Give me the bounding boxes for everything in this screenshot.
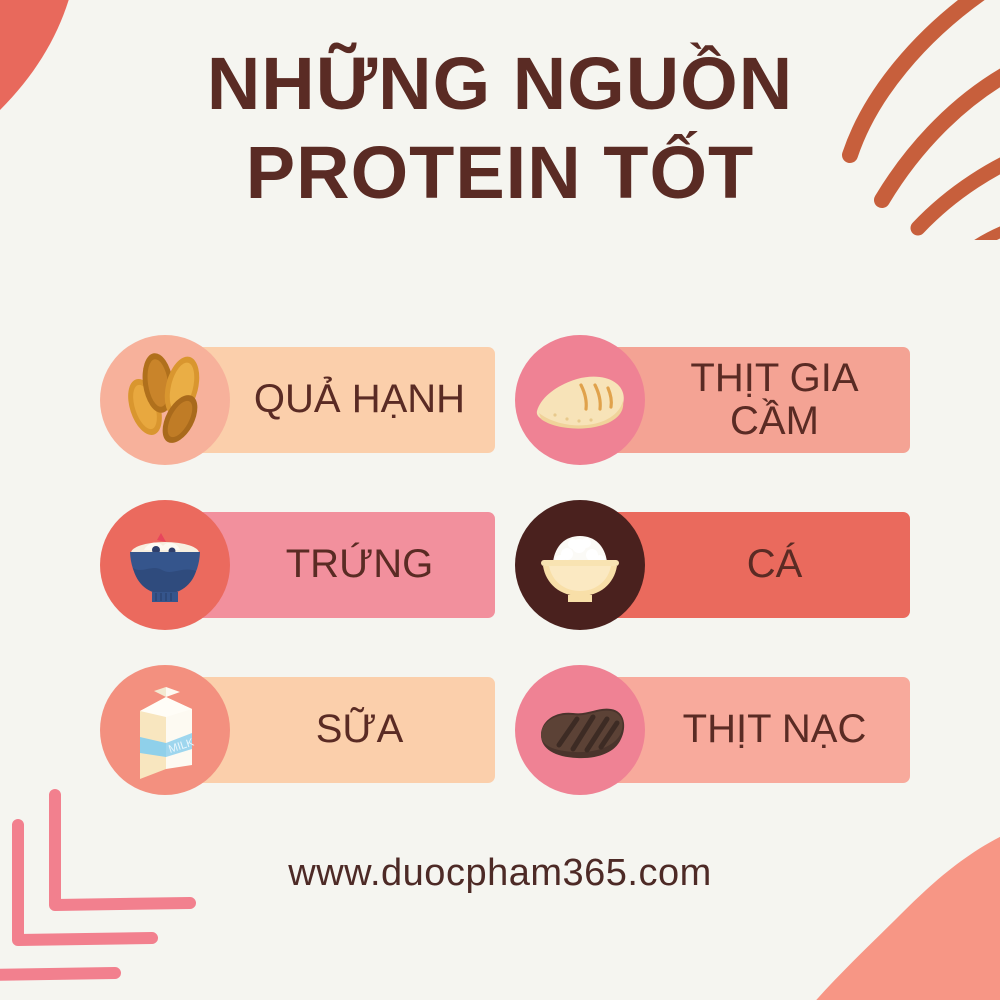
infographic-poster: NHỮNG NGUỒN PROTEIN TỐT QUẢ HẠNH — [0, 0, 1000, 1000]
card-trung: TRỨNG — [100, 500, 495, 630]
card-thit-gia-cam: THỊT GIA CẦM — [515, 335, 910, 465]
chicken-breast-icon — [515, 335, 645, 465]
rice-bowl-icon — [515, 500, 645, 630]
egg-bowl-icon — [100, 500, 230, 630]
title-line-1: NHỮNG NGUỒN — [0, 48, 1000, 121]
page-title: NHỮNG NGUỒN PROTEIN TỐT — [0, 48, 1000, 209]
steak-icon — [515, 665, 645, 795]
milk-carton-icon: MILK — [100, 665, 230, 795]
title-line-2: PROTEIN TỐT — [0, 137, 1000, 210]
card-qua-hanh: QUẢ HẠNH — [100, 335, 495, 465]
almonds-icon — [100, 335, 230, 465]
card-ca: CÁ — [515, 500, 910, 630]
protein-source-card-grid: QUẢ HẠNH — [100, 335, 910, 795]
card-sua: SỮA MILK — [100, 665, 495, 795]
website-url: www.duocpham365.com — [0, 852, 1000, 895]
card-thit-nac: THỊT NẠC — [515, 665, 910, 795]
